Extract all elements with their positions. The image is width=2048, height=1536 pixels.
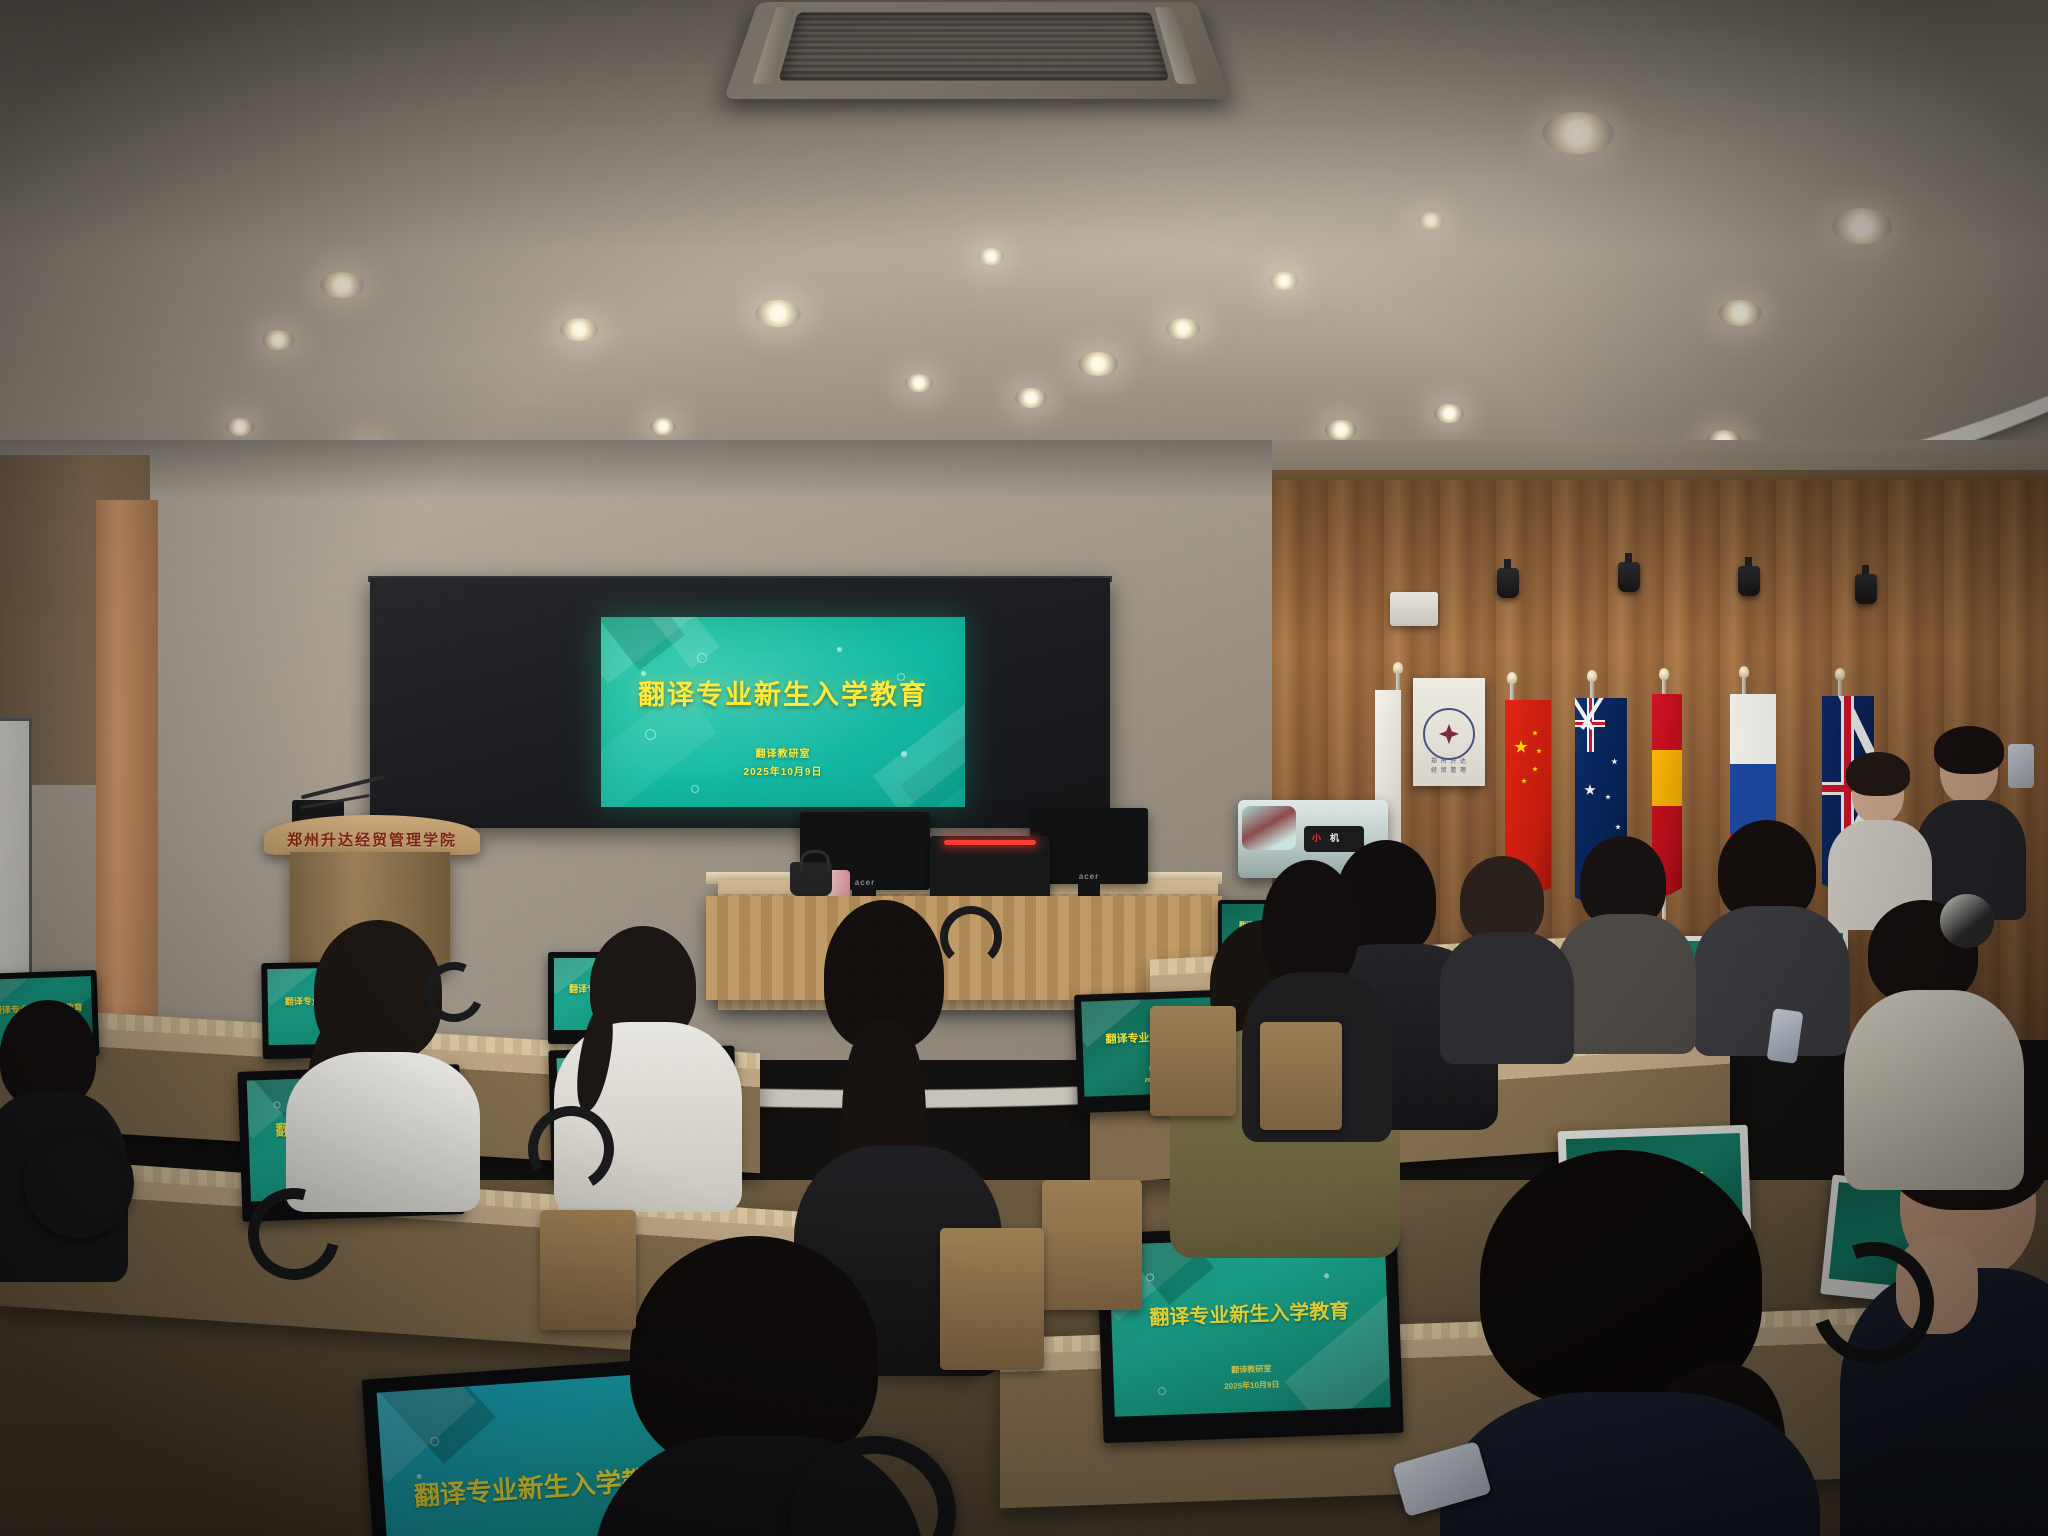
chair-back — [540, 1210, 636, 1330]
projection-screen: 翻译专业新生入学教育 翻译教研室 2025年10月9日 — [601, 617, 965, 807]
slide-title: 翻译专业新生入学教育 — [601, 673, 965, 712]
chair-back — [1042, 1180, 1142, 1310]
ceiling-spotlight — [1738, 566, 1760, 596]
emblem-cross-icon — [1438, 723, 1460, 745]
smartphone[interactable] — [2008, 744, 2034, 788]
device-label-accent: 小 — [1312, 831, 1321, 844]
lecture-hall-photo: 翻译专业新生入学教育 翻译教研室 2025年10月9日 郑 州 升 达 经 贸 … — [0, 0, 2048, 1536]
lectern-top: 郑州升达经贸管理学院 — [264, 815, 480, 855]
device-label-text: 机 — [1330, 831, 1339, 844]
chair-back — [1150, 1006, 1236, 1116]
slide-subtitle-department: 翻译教研室 — [601, 745, 965, 760]
whiteboard — [0, 718, 32, 986]
plaque-caption: 郑 州 升 达 经 贸 管 理 — [1413, 758, 1485, 776]
laptop-light-strip — [944, 840, 1036, 845]
emblem-ring — [1423, 708, 1475, 760]
device-roller — [1242, 806, 1296, 850]
wall-speaker — [1390, 592, 1438, 626]
ceiling-spotlight — [1618, 562, 1640, 592]
ceiling-spotlight — [1497, 568, 1519, 598]
teacher-laptop[interactable] — [930, 836, 1050, 900]
handbag-handle — [800, 850, 830, 871]
wood-pillar-left — [96, 500, 158, 1060]
ceiling-spotlight — [1855, 574, 1877, 604]
chair-back — [1260, 1022, 1342, 1130]
headphones[interactable] — [940, 906, 1002, 968]
hair-bow — [1940, 894, 1994, 948]
ceiling-air-conditioner — [724, 2, 1231, 99]
chair-back — [940, 1228, 1044, 1370]
institution-emblem-plaque: 郑 州 升 达 经 贸 管 理 — [1413, 678, 1485, 786]
lectern-institution-text: 郑州升达经贸管理学院 — [264, 829, 480, 850]
device-display: 小 机 — [1304, 826, 1364, 852]
plaque-caption-line1: 郑 州 升 达 — [1431, 759, 1467, 765]
monitor-slide-title: 翻译专业新生入学教育 — [1111, 1293, 1388, 1332]
wall-shadow — [0, 440, 1290, 500]
plaque-caption-line2: 经 贸 管 理 — [1431, 768, 1467, 774]
slide-subtitle-date: 2025年10月9日 — [601, 763, 965, 778]
